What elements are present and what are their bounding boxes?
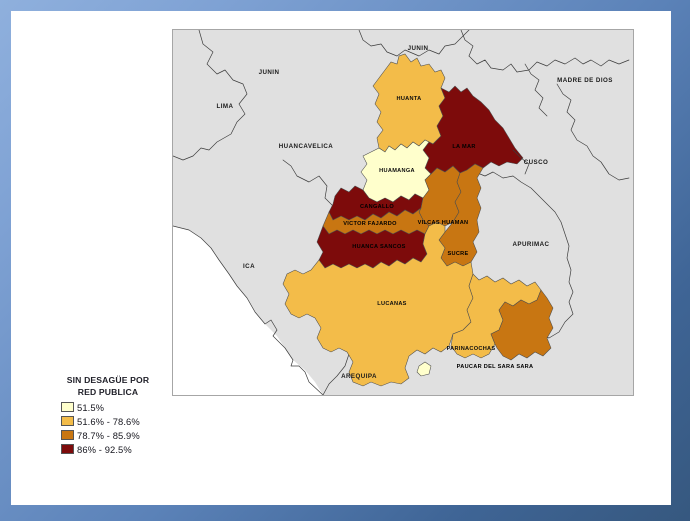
province-enclave-lucanas[interactable]	[417, 362, 431, 376]
legend-label-class-3: 78.7% - 85.9%	[77, 430, 140, 441]
legend-swatch-class-3	[61, 430, 74, 440]
legend-item-class-2[interactable]: 51.6% - 78.6%	[61, 414, 167, 428]
department-label-junin-north: JUNIN	[408, 45, 429, 52]
province-label-lucanas: LUCANAS	[377, 301, 406, 307]
legend-title-line-2: RED PUBLICA	[49, 386, 167, 398]
legend-item-class-4[interactable]: 86% - 92.5%	[61, 442, 167, 456]
map-panel[interactable]: HUANTA LA MAR HUAMANGA CANGALLO VICTOR F…	[172, 29, 634, 396]
legend-label-class-1: 51.5%	[77, 402, 104, 413]
department-label-junin-west: JUNIN	[259, 69, 280, 76]
legend-swatch-class-2	[61, 416, 74, 426]
province-label-huanta: HUANTA	[397, 96, 422, 102]
legend-item-class-3[interactable]: 78.7% - 85.9%	[61, 428, 167, 442]
department-label-cusco: CUSCO	[524, 159, 549, 166]
legend-item-class-1[interactable]: 51.5%	[61, 400, 167, 414]
department-label-arequipa: AREQUIPA	[341, 373, 377, 380]
legend-title-line-1: SIN DESAGÜE POR	[49, 374, 167, 386]
slide-canvas: HUANTA LA MAR HUAMANGA CANGALLO VICTOR F…	[11, 11, 671, 505]
province-label-vilcas-huaman: VILCAS HUAMAN	[418, 220, 469, 226]
ayacucho-choropleth-map[interactable]: HUANTA LA MAR HUAMANGA CANGALLO VICTOR F…	[173, 30, 633, 395]
department-label-lima: LIMA	[217, 103, 234, 110]
province-label-paucar-del-sara-sara: PAUCAR DEL SARA SARA	[457, 364, 534, 370]
province-huanta[interactable]	[373, 54, 445, 152]
legend-title: SIN DESAGÜE POR RED PUBLICA	[49, 374, 167, 398]
map-legend: SIN DESAGÜE POR RED PUBLICA 51.5% 51.6% …	[49, 374, 167, 456]
department-label-huancavelica: HUANCAVELICA	[279, 143, 334, 150]
legend-swatch-class-1	[61, 402, 74, 412]
legend-label-class-4: 86% - 92.5%	[77, 444, 132, 455]
province-label-parinacochas: PARINACOCHAS	[447, 346, 496, 352]
legend-label-class-2: 51.6% - 78.6%	[77, 416, 140, 427]
legend-swatch-class-4	[61, 444, 74, 454]
province-label-sucre: SUCRE	[447, 251, 468, 257]
province-label-huamanga: HUAMANGA	[379, 168, 415, 174]
slide-frame: HUANTA LA MAR HUAMANGA CANGALLO VICTOR F…	[0, 0, 690, 521]
province-label-la-mar: LA MAR	[452, 144, 475, 150]
province-label-cangallo: CANGALLO	[360, 204, 394, 210]
department-label-ica: ICA	[243, 263, 255, 270]
province-label-victor-fajardo: VICTOR FAJARDO	[343, 221, 397, 227]
province-label-huanca-sancos: HUANCA SANCOS	[352, 244, 405, 250]
department-label-madre-de-dios: MADRE DE DIOS	[557, 77, 613, 84]
department-label-apurimac: APURIMAC	[513, 241, 550, 248]
